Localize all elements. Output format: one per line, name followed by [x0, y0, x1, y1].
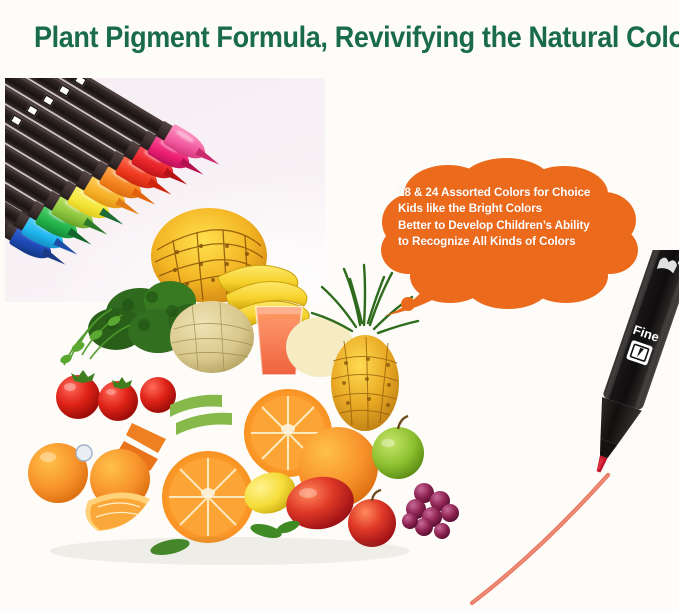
marker-color-swatch	[41, 94, 55, 107]
pen-barrel: Fine	[588, 250, 679, 479]
product-marketing-image: Plant Pigment Formula, Revivifying the N…	[0, 0, 679, 611]
orange-wedge	[86, 492, 150, 531]
pile-shadow	[50, 537, 410, 565]
marker-color-swatch	[25, 104, 39, 117]
celery-stalks	[170, 395, 232, 435]
pen-illustration: Fine	[588, 250, 679, 480]
marker-color-swatch	[9, 114, 23, 127]
tomatoes	[56, 370, 176, 421]
red-grapes	[402, 483, 459, 539]
callout-line-3: Better to Develop Children’s Ability	[398, 218, 630, 234]
cantaloupe-melon	[170, 301, 254, 373]
fine-tip-marker-pen: Fine	[588, 250, 679, 480]
callout-line-1: 18 & 24 Assorted Colors for Choice	[398, 185, 630, 201]
orange-half-large-1	[162, 451, 254, 543]
marker-color-swatch	[57, 84, 71, 97]
callout-line-4: to Recognize All Kinds of Colors	[398, 234, 630, 250]
marker-color-swatch	[73, 78, 87, 87]
page-title: Plant Pigment Formula, Revivifying the N…	[34, 22, 645, 54]
callout-line-2: Kids like the Bright Colors	[398, 201, 630, 217]
orange-sticker	[76, 445, 92, 461]
marker-color-swatch	[5, 124, 7, 137]
callout-text-block: 18 & 24 Assorted Colors for Choice Kids …	[398, 185, 630, 250]
